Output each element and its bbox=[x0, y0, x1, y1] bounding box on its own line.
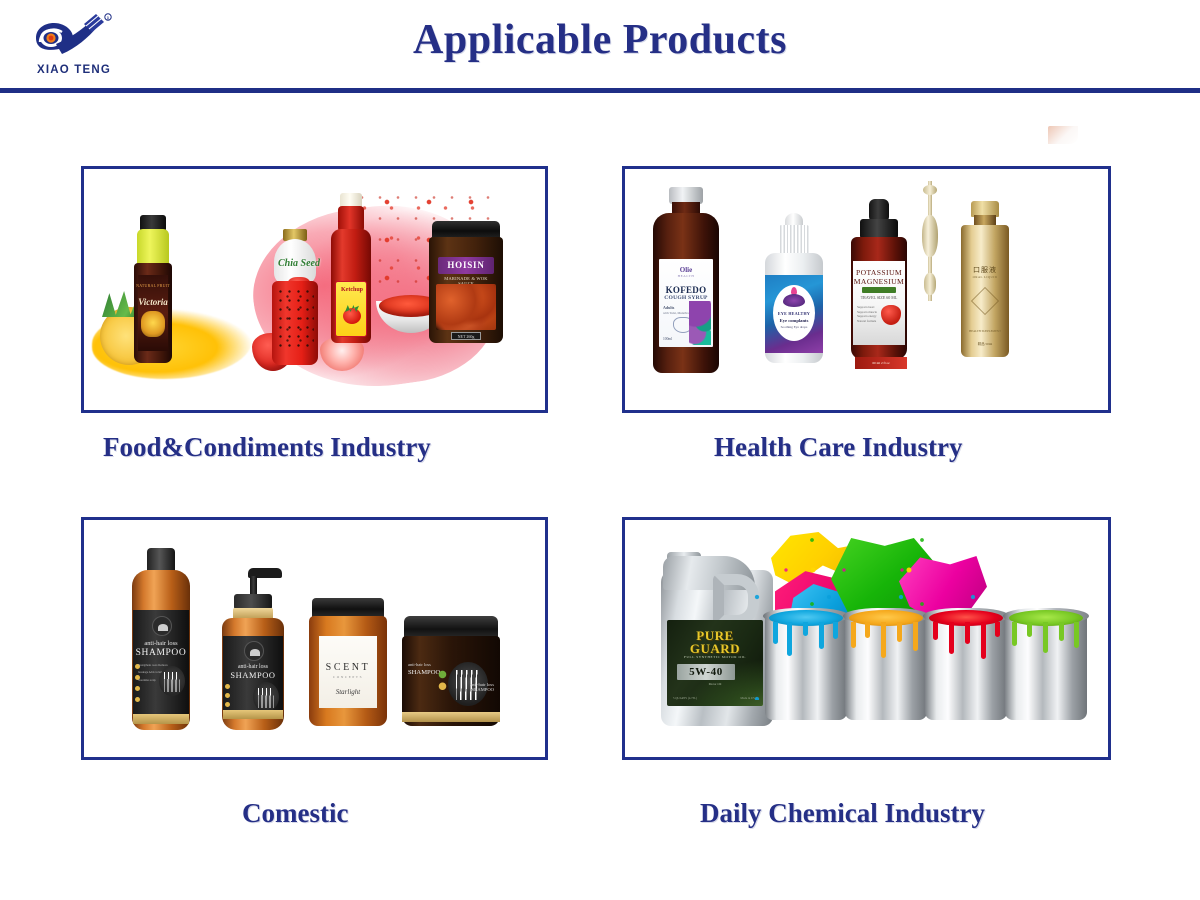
oil-grade-text: 5W-40 bbox=[677, 664, 735, 680]
oral-liquid-t2-text: ORAL LIQUID bbox=[961, 275, 1009, 279]
bottle-body: anti-hair loss SHAMPOO bbox=[222, 618, 284, 730]
hoisin-food-photo bbox=[436, 284, 496, 330]
scent-t3-text: Starlight bbox=[319, 688, 377, 696]
eye-drops-t3-text: Soothing Eye drops bbox=[773, 325, 815, 329]
anti-hair-loss-shampoo-bottle: anti-hair loss SHAMPOO Strengthens roots… bbox=[132, 548, 190, 730]
supplement-title-text: POTASSIUM MAGNESIUM bbox=[853, 269, 905, 286]
bullet-dot bbox=[225, 684, 230, 689]
victoria-fruit-art bbox=[141, 311, 165, 337]
hoisin-title-band: HOISIN bbox=[438, 257, 494, 274]
bottle-cap bbox=[778, 225, 810, 255]
paint-can-green bbox=[1005, 600, 1087, 720]
supplement-label: POTASSIUM MAGNESIUM TRAVEL SIZE 60 ML Su… bbox=[853, 261, 905, 345]
syrup-title-text: KOFEDO bbox=[659, 285, 713, 295]
pipette-bulb-low bbox=[924, 273, 936, 295]
supplement-badge bbox=[862, 287, 896, 293]
bottle-cap bbox=[340, 193, 362, 207]
chia-seed-drink-bottle: Chia Seed bbox=[270, 229, 320, 365]
hair-mask-jar: anti-hair loss SHAMPOO anti-hair loss SH… bbox=[402, 616, 500, 726]
caption-cosmetic: Comestic bbox=[242, 798, 348, 829]
can-drips bbox=[847, 622, 925, 662]
ornament-diamond bbox=[971, 287, 999, 315]
bottle-body: EYE HEALTHY Eye complants Soothing Eye d… bbox=[765, 253, 823, 363]
bottle-body: anti-hair loss SHAMPOO Strengthens roots… bbox=[132, 570, 190, 730]
pipette-bulb-top bbox=[923, 185, 937, 195]
oil-grade-badge: 5W-40 bbox=[677, 664, 735, 680]
tomato-ketchup-bottle: Ketchup bbox=[330, 193, 372, 343]
supplement-bullets-text: Supports heart Supports muscle Supports … bbox=[857, 305, 881, 323]
bottle-cap bbox=[147, 548, 175, 572]
jar-lid bbox=[404, 616, 498, 638]
supplement-sub-text: TRAVEL SIZE 60 ML bbox=[853, 295, 905, 300]
chia-seeds-texture bbox=[276, 287, 314, 349]
bottle-body: Ketchup bbox=[331, 229, 371, 343]
oral-liquid-gold-bottle: 口服液 ORAL LIQUID HEALTH SUPPLEMENT 精品 50m… bbox=[961, 201, 1009, 357]
oral-liquid-t3-text: HEALTH SUPPLEMENT bbox=[961, 329, 1009, 333]
gold-band bbox=[133, 714, 189, 724]
kofedo-cough-syrup-bottle: Olie HEALTH KOFEDO COUGH SYRUP Adults wi… bbox=[653, 187, 719, 373]
scent-candle-jar: SCENT CONCEPTS Starlight bbox=[309, 598, 387, 726]
eye-drops-label: EYE HEALTHY Eye complants Soothing Eye d… bbox=[765, 275, 823, 353]
can-drips bbox=[767, 622, 845, 662]
hair-strands-graphic bbox=[159, 666, 185, 696]
bullet-dots bbox=[438, 670, 447, 698]
bullet-dot bbox=[135, 686, 140, 691]
mask-t1-text: anti-hair loss bbox=[408, 662, 450, 667]
syrup-label: Olie HEALTH KOFEDO COUGH SYRUP Adults wi… bbox=[659, 259, 713, 347]
victoria-juice-bottle: NATURAL FRUIT Victoria bbox=[132, 215, 174, 363]
gold-band bbox=[223, 710, 283, 719]
caption-food-condiments: Food&Condiments Industry bbox=[103, 432, 431, 463]
victoria-sub-text: NATURAL FRUIT bbox=[134, 283, 172, 288]
berry-graphic bbox=[881, 305, 901, 325]
syrup-brand-sub-text: HEALTH bbox=[659, 274, 713, 278]
paint-can-orange bbox=[845, 600, 927, 720]
can-drips bbox=[1007, 622, 1085, 662]
supplement-foot-text: 60 ml 2 fl oz bbox=[855, 357, 907, 369]
dropper-bulb bbox=[869, 199, 889, 221]
bottle-body: Olie HEALTH KOFEDO COUGH SYRUP Adults wi… bbox=[653, 213, 719, 373]
bottle-body: POTASSIUM MAGNESIUM TRAVEL SIZE 60 ML Su… bbox=[851, 237, 907, 359]
bullet-dot bbox=[225, 702, 230, 707]
anti-hair-loss-shampoo-pump: anti-hair loss SHAMPOO bbox=[222, 568, 284, 730]
bottle-shoulder: Chia Seed bbox=[274, 239, 316, 285]
shampoo-t2-text: SHAMPOO bbox=[223, 671, 283, 680]
bottle-neck bbox=[137, 229, 169, 267]
brand-emblem-icon bbox=[244, 641, 264, 661]
bullet-dot bbox=[225, 693, 230, 698]
syrup-brand-text: Olie bbox=[659, 266, 713, 274]
panel-cosmetic[interactable]: anti-hair loss SHAMPOO Strengthens roots… bbox=[81, 517, 548, 760]
ketchup-label-text: Ketchup bbox=[336, 287, 368, 294]
bottle-body: 口服液 ORAL LIQUID HEALTH SUPPLEMENT 精品 50m… bbox=[961, 225, 1009, 357]
bullet-dot bbox=[135, 697, 140, 702]
page-title: Applicable Products bbox=[0, 16, 1200, 64]
paint-can-red bbox=[925, 600, 1007, 720]
scent-t1-text: SCENT bbox=[319, 662, 377, 673]
eye-drops-bottle: EYE HEALTHY Eye complants Soothing Eye d… bbox=[765, 213, 823, 363]
shampoo-t1-text: anti-hair loss bbox=[133, 640, 189, 647]
bottle-body: NATURAL FRUIT Victoria bbox=[134, 263, 172, 363]
jar-lid bbox=[312, 598, 384, 618]
syrup-decor-blobs bbox=[689, 301, 711, 345]
supplement-footer: 60 ml 2 fl oz bbox=[855, 357, 907, 369]
caption-health-care: Health Care Industry bbox=[714, 432, 963, 463]
hoisin-sauce-jar: HOISIN MARINADE & WOK SAUCE NET 260g bbox=[429, 221, 503, 343]
bottle-cap bbox=[140, 215, 166, 230]
header-divider bbox=[0, 88, 1200, 93]
hair-strands-graphic bbox=[253, 682, 279, 712]
jar-body: anti-hair loss SHAMPOO anti-hair loss SH… bbox=[402, 636, 500, 726]
victoria-brand-text: Victoria bbox=[134, 297, 172, 307]
oral-liquid-t1-text: 口服液 bbox=[961, 265, 1009, 275]
jar-body: SCENT CONCEPTS Starlight bbox=[309, 616, 387, 726]
scent-t2-text: CONCEPTS bbox=[319, 675, 377, 679]
shampoo-label: anti-hair loss SHAMPOO Strengthens roots… bbox=[133, 610, 189, 714]
label-oval: EYE HEALTHY Eye complants Soothing Eye d… bbox=[773, 285, 815, 341]
eye-icon bbox=[783, 294, 805, 307]
slide-page: R XIAO TENG Applicable Products NATURAL … bbox=[0, 0, 1200, 900]
glass-pipette bbox=[921, 181, 939, 301]
hoisin-net-weight: NET 260g bbox=[451, 332, 481, 340]
paint-can-cyan bbox=[765, 600, 847, 720]
oral-liquid-t4-text: 精品 50ml bbox=[961, 341, 1009, 346]
shampoo-label: anti-hair loss SHAMPOO bbox=[223, 636, 283, 710]
caption-daily-chemical: Daily Chemical Industry bbox=[700, 798, 985, 829]
logo-wordmark: XIAO TENG bbox=[26, 64, 122, 76]
panel-food-condiments[interactable]: NATURAL FRUIT Victoria Chia Seed Ket bbox=[81, 166, 548, 413]
shampoo-t2-text: SHAMPOO bbox=[133, 648, 189, 658]
gold-band bbox=[402, 712, 500, 722]
hoisin-net-text: NET 260g bbox=[452, 333, 480, 341]
scent-label: SCENT CONCEPTS Starlight bbox=[319, 636, 377, 708]
shampoo-t1-text: anti-hair loss bbox=[223, 664, 283, 670]
panel-daily-chemical[interactable]: PURE GUARD FULL SYNTHETIC MOTOR OIL 5W-4… bbox=[622, 517, 1111, 760]
eye-drops-t2-text: Eye complants bbox=[773, 318, 815, 323]
brand-emblem-icon bbox=[152, 616, 172, 636]
potassium-magnesium-dropper-bottle: POTASSIUM MAGNESIUM TRAVEL SIZE 60 ML Su… bbox=[851, 199, 907, 359]
dropper-collar bbox=[860, 219, 898, 239]
jar-body: HOISIN MARINADE & WOK SAUCE NET 260g bbox=[429, 237, 503, 343]
pipette-bulb-mid bbox=[922, 215, 938, 257]
mask-t3-text: anti-hair loss SHAMPOO bbox=[454, 682, 494, 692]
eye-drops-t1-text: EYE HEALTHY bbox=[773, 311, 815, 316]
chia-seed-brand-text: Chia Seed bbox=[274, 259, 324, 269]
hoisin-title-text: HOISIN bbox=[438, 260, 494, 270]
bottle-body bbox=[272, 281, 318, 365]
panel-health-care[interactable]: Olie HEALTH KOFEDO COUGH SYRUP Adults wi… bbox=[622, 166, 1111, 413]
slide-header: R XIAO TENG Applicable Products bbox=[0, 0, 1200, 93]
can-drips bbox=[927, 622, 1005, 662]
image-artifact bbox=[1048, 126, 1078, 144]
ketchup-label: Ketchup bbox=[335, 281, 367, 337]
